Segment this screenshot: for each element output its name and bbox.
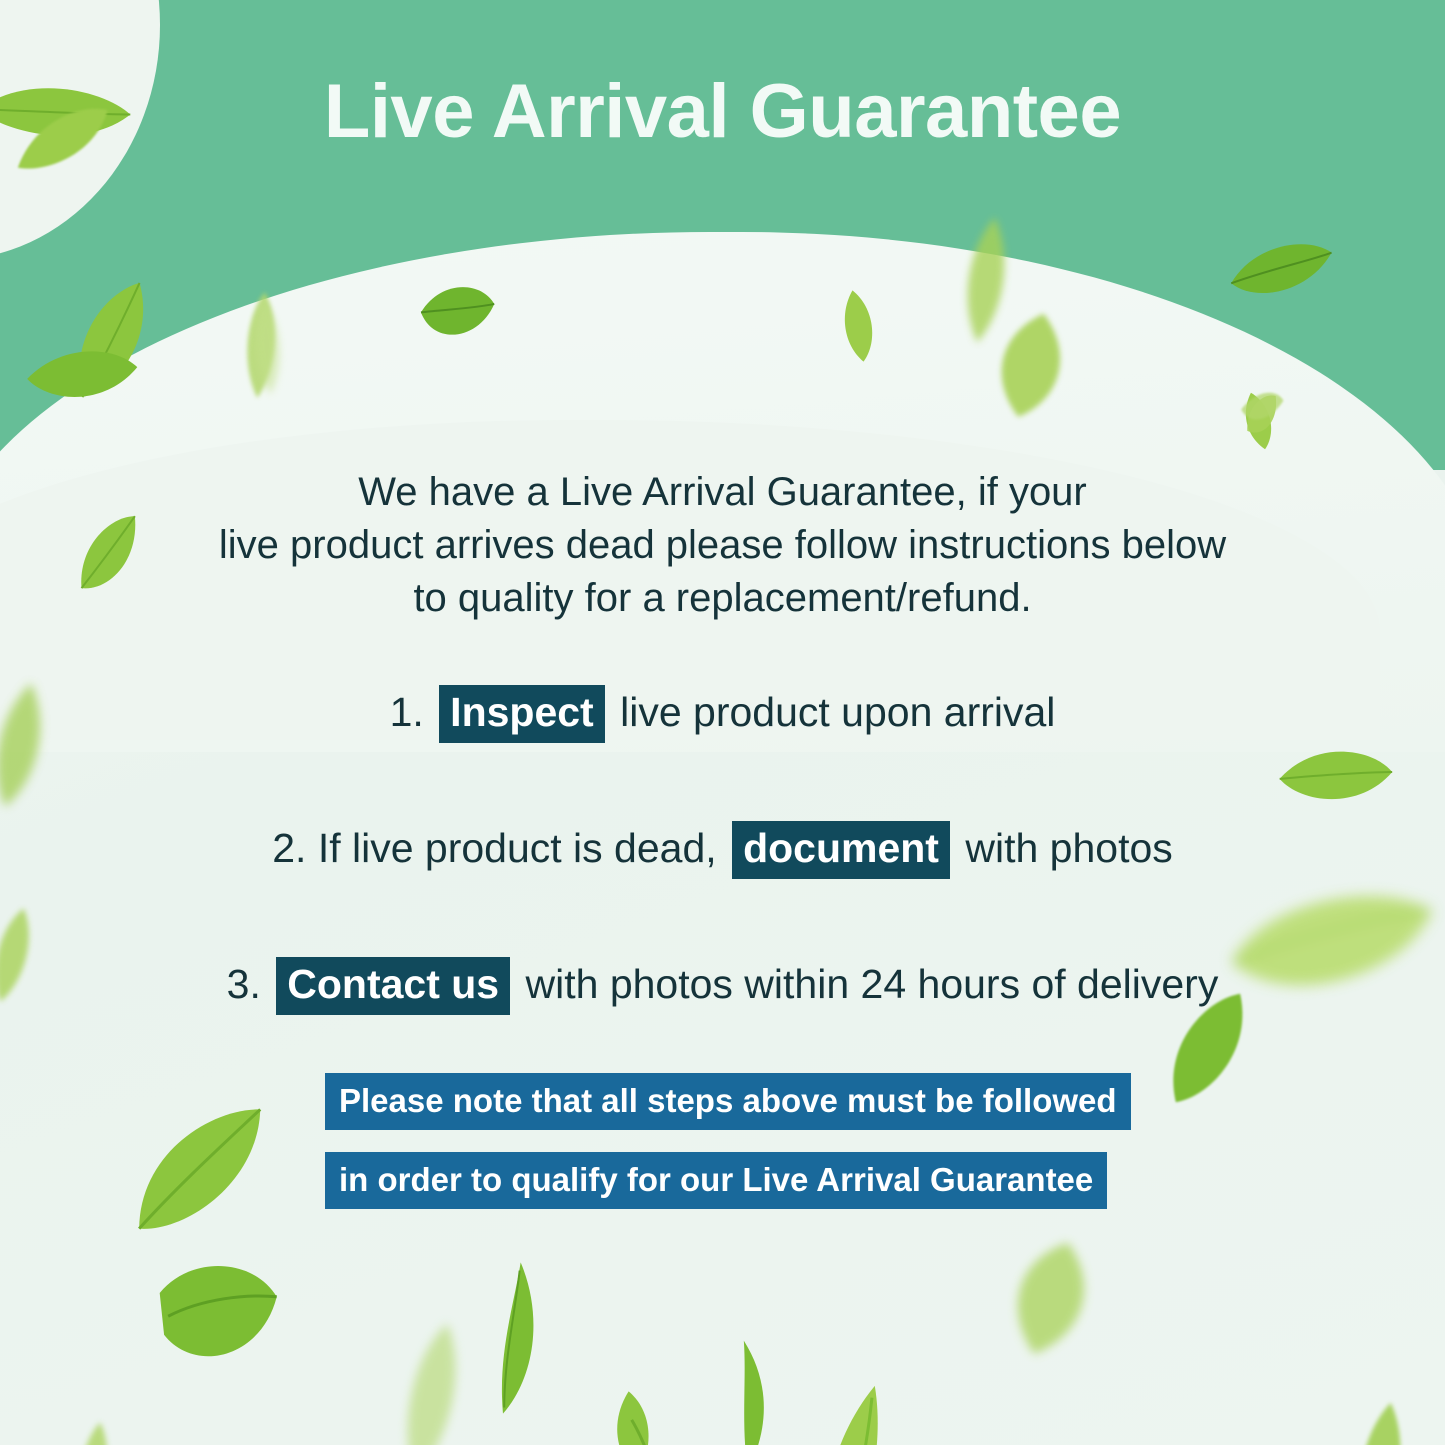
steps-list: 1. Inspect live product upon arrival 2. … xyxy=(0,685,1445,1015)
leaf-decoration-left-lower xyxy=(107,1093,293,1247)
step-item-3: 3. Contact us with photos within 24 hour… xyxy=(0,957,1445,1015)
step-1-number: 1. xyxy=(390,689,424,735)
step-3-number: 3. xyxy=(227,961,261,1007)
page-title: Live Arrival Guarantee xyxy=(0,72,1445,152)
intro-line-2: live product arrives dead please follow … xyxy=(0,519,1445,572)
intro-paragraph: We have a Live Arrival Guarantee, if you… xyxy=(0,466,1445,624)
leaf-decoration-bottom-7 xyxy=(795,1379,895,1445)
leaf-decoration-bottom-6 xyxy=(701,1334,795,1445)
leaf-decoration-bottom-1 xyxy=(69,1418,119,1445)
note-line-2: in order to qualify for our Live Arrival… xyxy=(325,1152,1107,1209)
leaf-decoration-bottom-3 xyxy=(384,1315,478,1445)
leaf-decoration-bottom-4 xyxy=(469,1258,555,1420)
step-3-text-after: with photos within 24 hours of delivery xyxy=(526,961,1219,1007)
step-item-2: 2. If live product is dead, document wit… xyxy=(0,821,1445,879)
step-item-1: 1. Inspect live product upon arrival xyxy=(0,685,1445,743)
leaf-decoration-bottom-8 xyxy=(984,1225,1116,1370)
live-arrival-guarantee-poster: Live Arrival Guarantee We have a Live Ar… xyxy=(0,0,1445,1445)
step-2-number: 2. xyxy=(272,825,306,871)
intro-line-1: We have a Live Arrival Guarantee, if you… xyxy=(0,466,1445,519)
step-1-highlight-inspect: Inspect xyxy=(439,685,605,743)
step-2-highlight-document: document xyxy=(732,821,950,879)
leaf-decoration-bottom-10 xyxy=(1341,1396,1418,1445)
leaf-decoration-bottom-5 xyxy=(581,1386,680,1445)
intro-line-3: to quality for a replacement/refund. xyxy=(0,572,1445,625)
leaf-decoration-bottom-2 xyxy=(146,1246,290,1377)
step-2-text-before: If live product is dead, xyxy=(318,825,717,871)
leaf-decoration-bottom-9 xyxy=(1080,1409,1280,1445)
step-2-text-after: with photos xyxy=(965,825,1172,871)
note-block: Please note that all steps above must be… xyxy=(325,1073,1131,1209)
note-line-1: Please note that all steps above must be… xyxy=(325,1073,1131,1130)
step-1-text-after: live product upon arrival xyxy=(620,689,1055,735)
step-3-highlight-contact-us: Contact us xyxy=(276,957,510,1015)
